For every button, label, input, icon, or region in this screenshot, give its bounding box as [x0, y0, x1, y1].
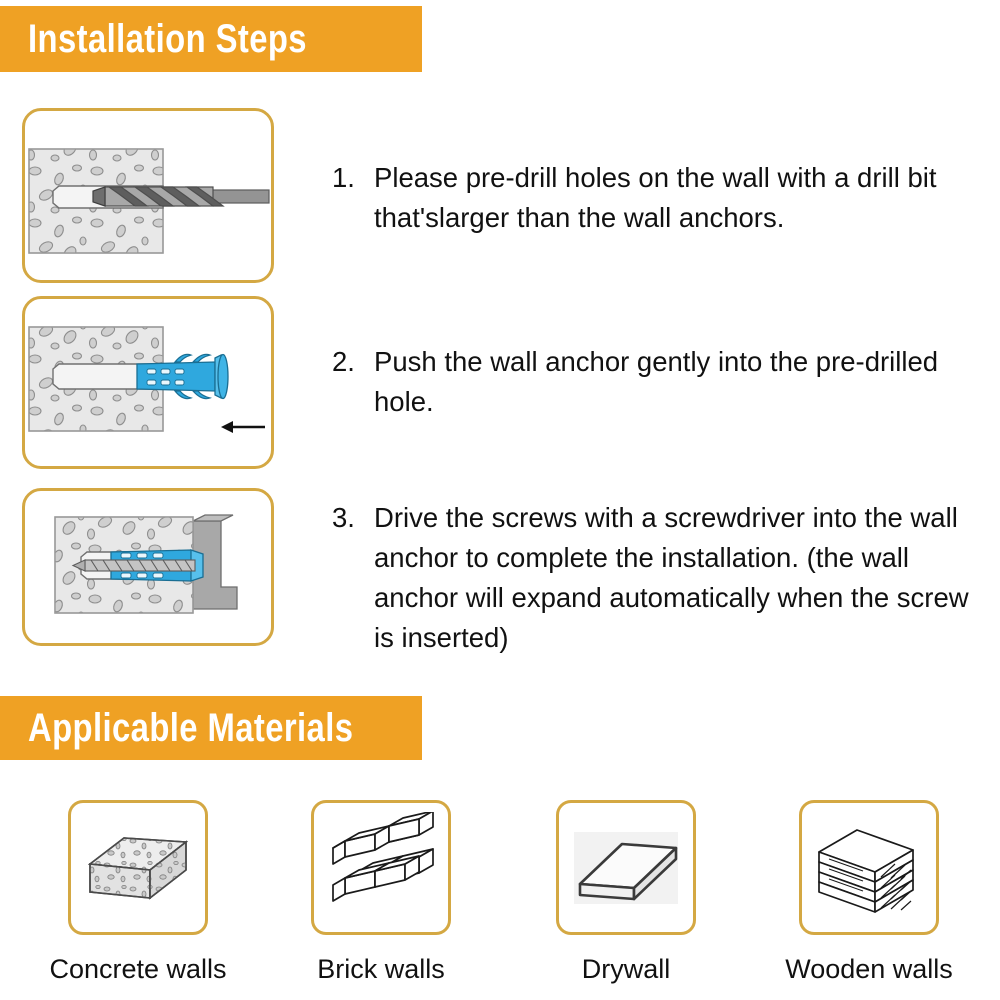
material-frame-brick — [311, 800, 451, 935]
screw-driven-into-anchor-icon — [25, 491, 271, 643]
step-1-number: 1. — [332, 158, 355, 198]
material-item-brick: Brick walls — [258, 800, 504, 985]
applicable-materials-banner: Applicable Materials — [0, 696, 422, 760]
material-label-wooden: Wooden walls — [746, 954, 992, 985]
lumber-stack-icon — [807, 812, 931, 924]
drywall-panel-icon — [564, 812, 688, 924]
applicable-materials-row: Concrete walls — [0, 800, 1000, 1000]
step-1-illustration-frame — [22, 108, 274, 283]
material-frame-drywall — [556, 800, 696, 935]
material-item-wooden: Wooden walls — [746, 800, 992, 985]
anchor-pushed-into-hole-icon — [25, 299, 271, 466]
step-1-body: Please pre-drill holes on the wall with … — [374, 158, 992, 238]
material-frame-concrete — [68, 800, 208, 935]
drill-bit-into-concrete-icon — [25, 111, 271, 280]
installation-steps-area: 1. Please pre-drill holes on the wall wi… — [0, 100, 1000, 680]
step-2-number: 2. — [332, 342, 355, 382]
step-3-body: Drive the screws with a screwdriver into… — [374, 498, 992, 658]
applicable-materials-title: Applicable Materials — [28, 706, 353, 751]
push-direction-arrow-icon — [221, 421, 265, 433]
material-frame-wooden — [799, 800, 939, 935]
material-label-concrete: Concrete walls — [15, 954, 261, 985]
step-2-body: Push the wall anchor gently into the pre… — [374, 342, 992, 422]
step-3-illustration-frame — [22, 488, 274, 646]
concrete-block-icon — [76, 812, 200, 924]
step-3-number: 3. — [332, 498, 355, 538]
installation-steps-banner: Installation Steps — [0, 6, 422, 72]
installation-steps-title: Installation Steps — [28, 17, 307, 62]
material-label-drywall: Drywall — [503, 954, 749, 985]
step-1-text: 1. Please pre-drill holes on the wall wi… — [332, 158, 992, 238]
brick-wall-icon — [319, 812, 443, 924]
step-2-text: 2. Push the wall anchor gently into the … — [332, 342, 992, 422]
material-label-brick: Brick walls — [258, 954, 504, 985]
material-item-concrete: Concrete walls — [15, 800, 261, 985]
step-2-illustration-frame — [22, 296, 274, 469]
step-3-text: 3. Drive the screws with a screwdriver i… — [332, 498, 992, 658]
material-item-drywall: Drywall — [503, 800, 749, 985]
